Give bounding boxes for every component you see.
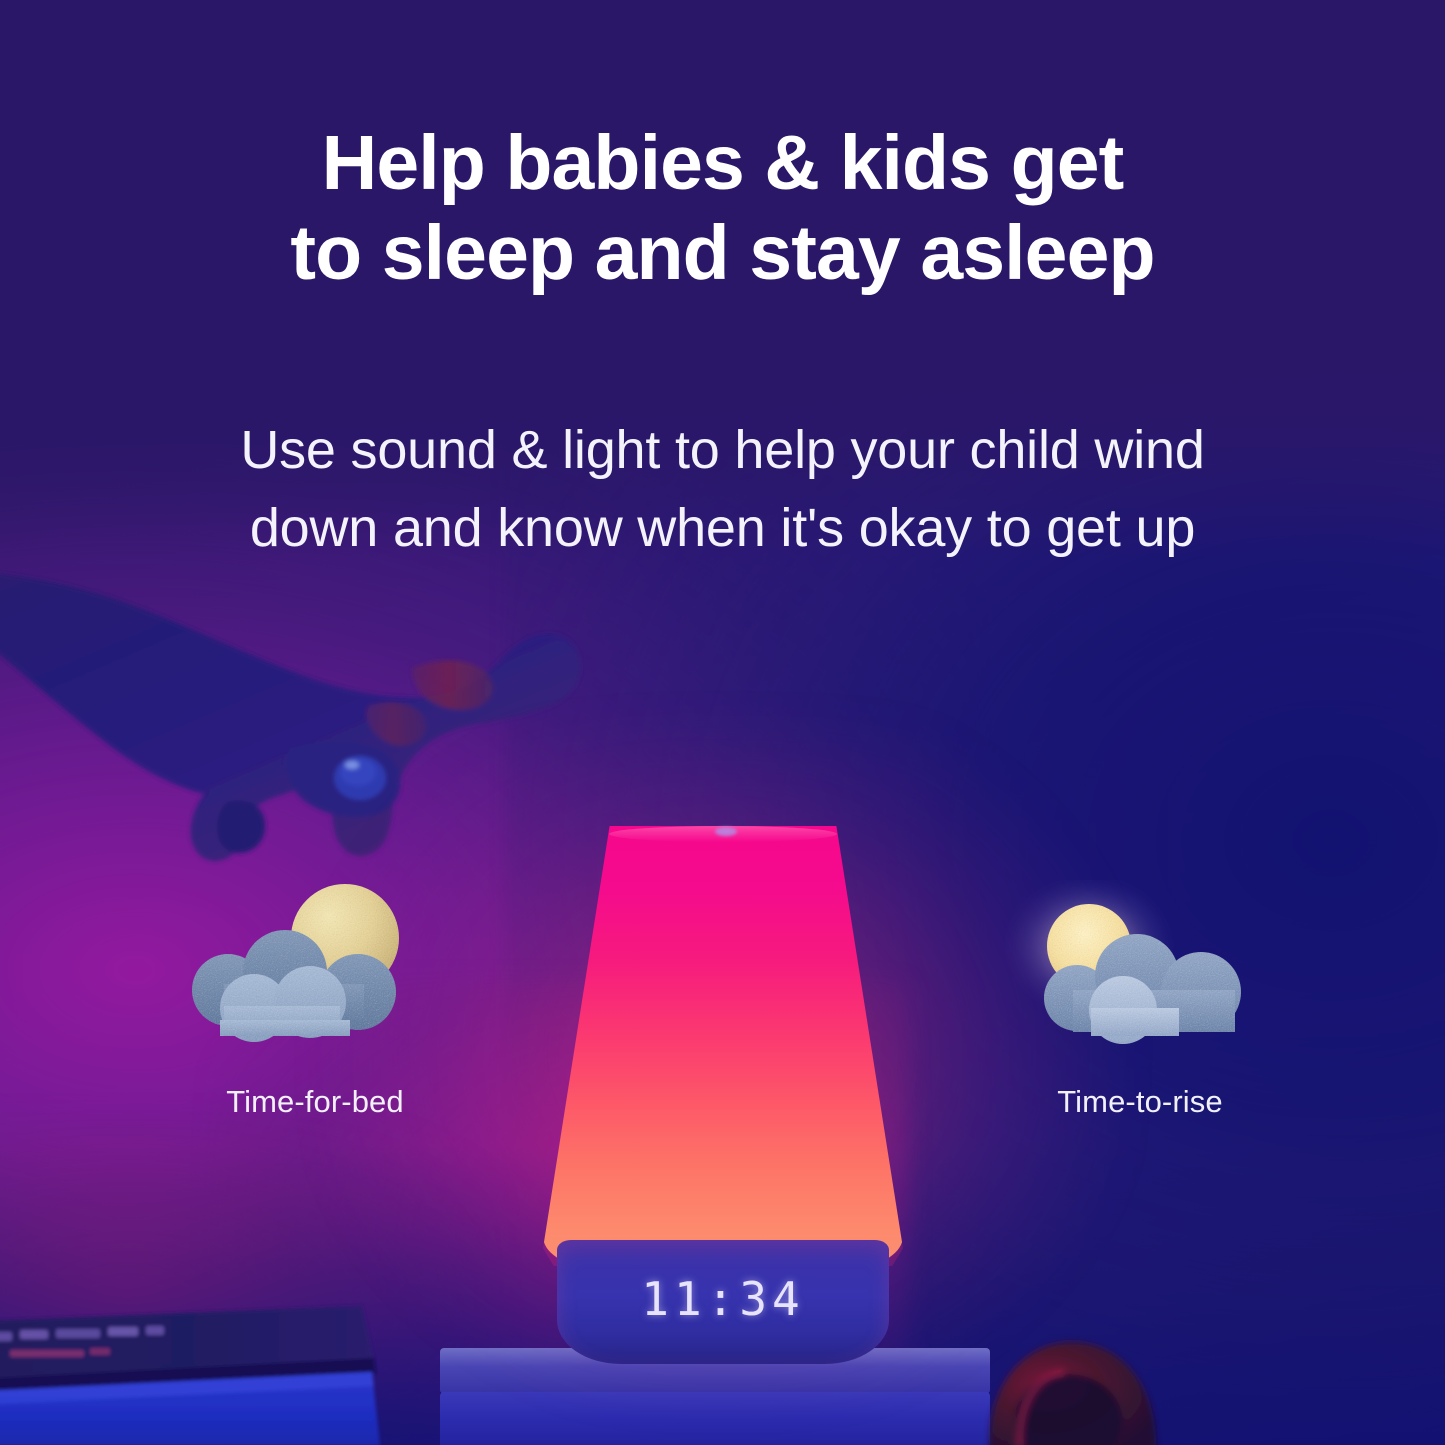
page-title: Help babies & kids get to sleep and stay… [0, 118, 1445, 298]
headline-line-2: to sleep and stay asleep [0, 208, 1445, 298]
subheadline-line-2: down and know when it's okay to get up [0, 490, 1445, 568]
feature-label-time-to-rise: Time-to-rise [1005, 1084, 1275, 1120]
feature-time-to-rise: Time-to-rise [1005, 880, 1275, 1120]
product-lifestyle-image: Help babies & kids get to sleep and stay… [0, 0, 1445, 1445]
clock-display: 11:34 [557, 1272, 889, 1326]
lamp-light-shade [543, 826, 903, 1266]
moon-behind-clouds-icon [180, 880, 450, 1060]
feature-label-time-for-bed: Time-for-bed [180, 1084, 450, 1120]
left-book-stack [0, 1296, 400, 1445]
feature-time-for-bed: Time-for-bed [180, 880, 450, 1120]
lamp-top-button[interactable] [715, 827, 737, 836]
page-subtitle: Use sound & light to help your child win… [0, 412, 1445, 568]
subheadline-line-1: Use sound & light to help your child win… [0, 412, 1445, 490]
headline-line-1: Help babies & kids get [0, 118, 1445, 208]
book-bottom [440, 1392, 990, 1445]
right-decor-object [960, 1300, 1280, 1445]
sun-behind-clouds-icon [1005, 880, 1275, 1060]
sleep-trainer-lamp[interactable]: 11:34 [543, 826, 903, 1366]
